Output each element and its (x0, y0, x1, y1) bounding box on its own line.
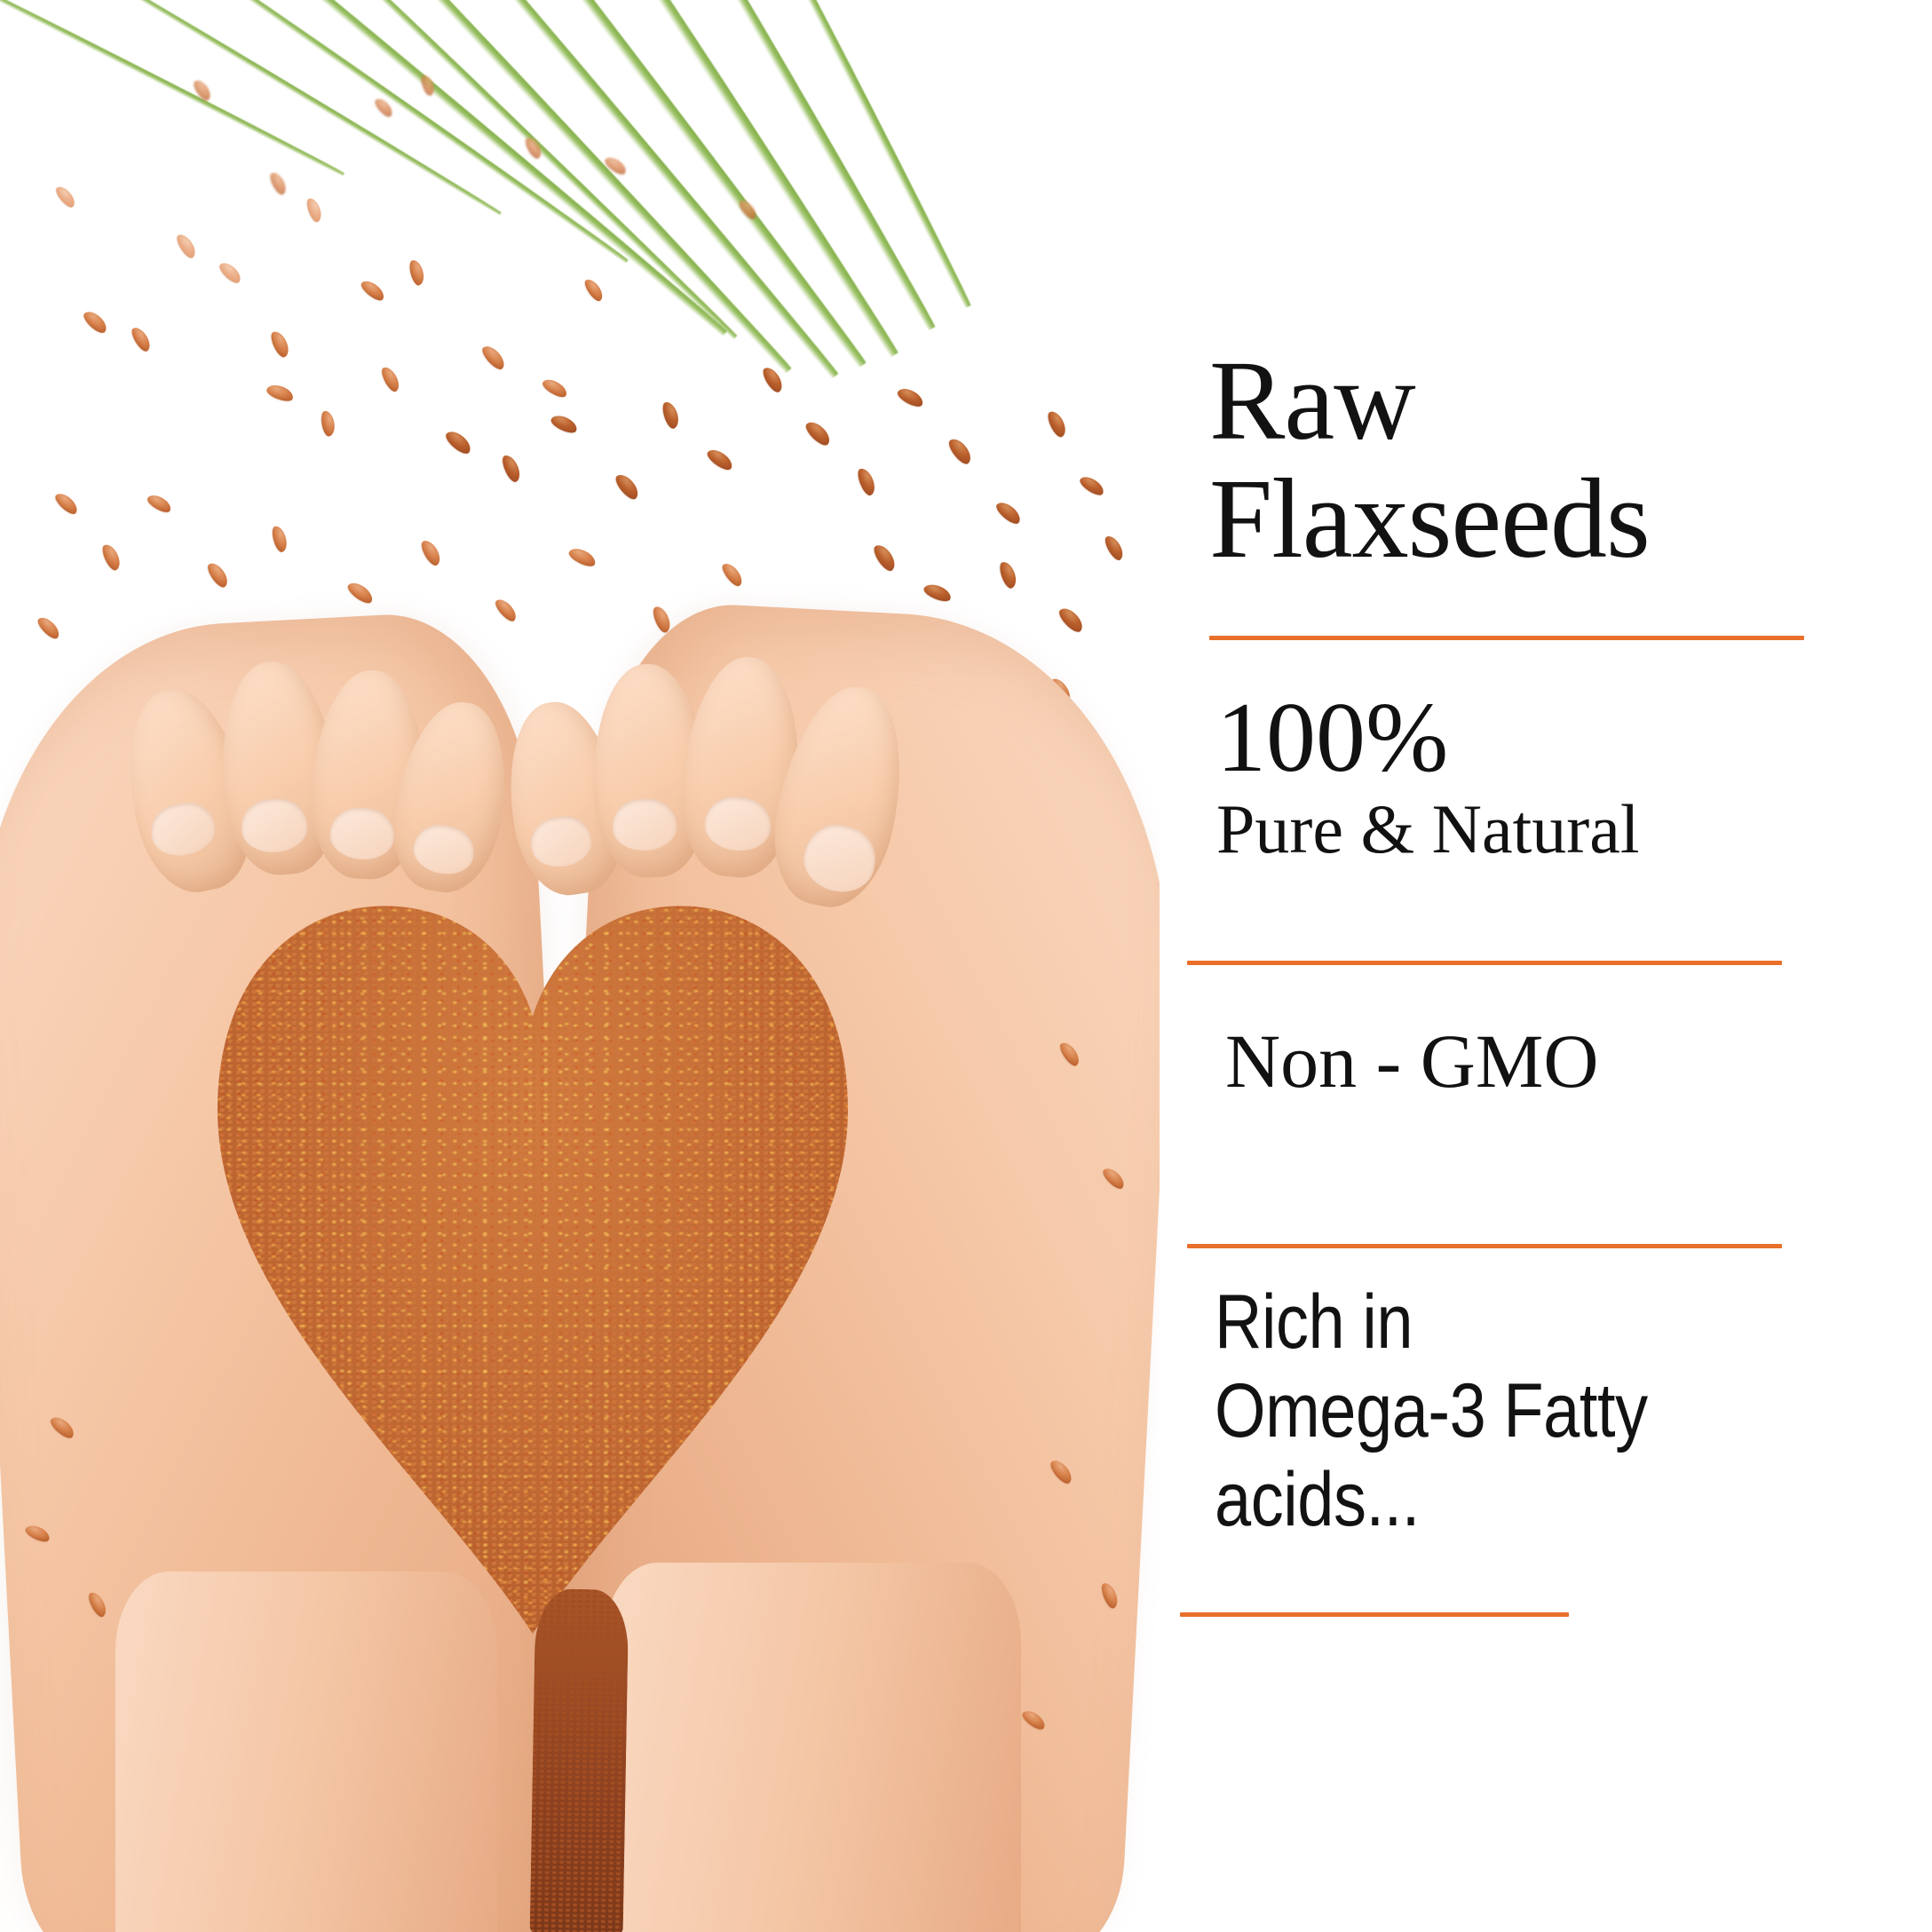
divider-1 (1209, 636, 1804, 640)
flaxseed (946, 435, 975, 467)
flaxseed (145, 492, 173, 516)
right-wrist (604, 1563, 1021, 1932)
flaxseed (52, 490, 81, 517)
flaxseed (566, 545, 598, 570)
flaxseed (204, 560, 231, 590)
flaxseed (922, 582, 953, 605)
product-title: Raw Flaxseeds (1209, 342, 1884, 578)
flaxseed (582, 276, 606, 303)
product-banner: Raw Flaxseeds 100% Pure & Natural Non - … (0, 0, 1932, 1932)
flaxseed (270, 525, 289, 554)
product-title-line-2: Flaxseeds (1209, 460, 1884, 578)
flaxseed (129, 325, 154, 354)
flaxseed (267, 170, 289, 197)
flaxseed (81, 308, 110, 337)
flaxseed (1056, 605, 1086, 636)
flaxseed (217, 259, 244, 286)
claim-omega: Rich in Omega-3 Fatty acids... (1215, 1279, 1916, 1544)
non-gmo-headline: Non - GMO (1225, 1021, 1900, 1101)
flaxseed (345, 579, 376, 606)
flaxseed (418, 537, 443, 567)
spilling-seeds (530, 1588, 629, 1932)
flaxseed (408, 258, 426, 287)
grass-frond-icon (791, 0, 972, 309)
flaxseed (997, 559, 1019, 590)
flaxseed (99, 542, 123, 572)
claim-non-gmo: Non - GMO (1225, 1021, 1900, 1101)
omega-line-1: Rich in (1215, 1279, 1817, 1367)
flaxseed (871, 542, 899, 574)
flaxseed (549, 412, 579, 436)
heart-shaped-seed-pile (164, 804, 901, 1638)
flaxseed (479, 343, 509, 373)
divider-2 (1187, 961, 1782, 965)
purity-subline: Pure & Natural (1216, 793, 1891, 867)
flaxseed (1045, 408, 1069, 439)
flaxseed (53, 184, 78, 210)
omega-line-3: acids... (1215, 1456, 1817, 1545)
flaxseed (855, 466, 878, 497)
flaxseed (895, 385, 925, 410)
flaxseed (1078, 473, 1107, 498)
flaxseed (500, 453, 524, 484)
flaxseed (443, 427, 475, 456)
flaxseed (305, 196, 324, 224)
flaxseed (320, 410, 337, 438)
flaxseed (493, 596, 519, 624)
claim-purity: 100% Pure & Natural (1216, 688, 1891, 867)
flaxseed (1102, 534, 1126, 563)
divider-4 (1180, 1612, 1569, 1617)
flaxseed (705, 446, 736, 473)
flaxseed (359, 277, 387, 304)
left-wrist (115, 1572, 497, 1932)
flaxseed (613, 471, 642, 503)
flaxseed (35, 614, 62, 641)
claims-panel: Raw Flaxseeds 100% Pure & Natural Non - … (1160, 0, 1932, 1932)
grass-frond-icon (350, 0, 739, 340)
flaxseed (268, 329, 292, 359)
flaxseed (803, 418, 834, 448)
flaxseed (541, 376, 570, 400)
product-photo (0, 0, 1160, 1932)
flaxseed (379, 364, 402, 393)
purity-headline: 100% (1216, 688, 1891, 788)
divider-3 (1187, 1244, 1782, 1248)
omega-line-2: Omega-3 Fatty (1215, 1367, 1817, 1456)
product-title-line-1: Raw (1209, 342, 1884, 460)
flaxseed (661, 400, 682, 430)
flaxseed (719, 560, 746, 589)
flaxseed (994, 498, 1024, 527)
flaxseed (265, 382, 295, 404)
flaxseed (174, 232, 199, 261)
seed-heart-texture (164, 804, 901, 1638)
